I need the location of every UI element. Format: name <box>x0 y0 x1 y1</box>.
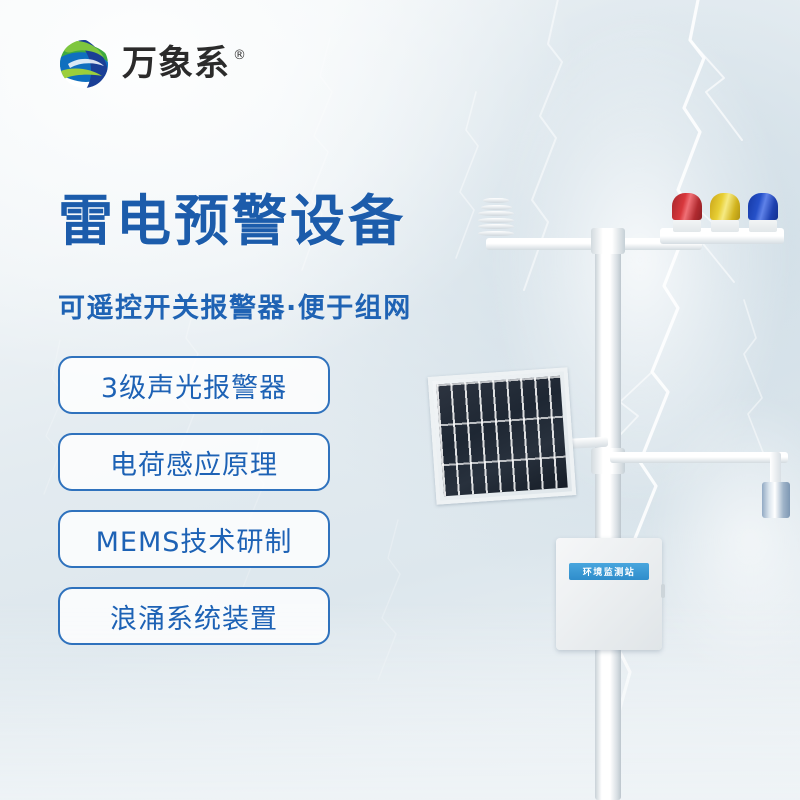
support-mast <box>595 228 621 800</box>
control-box-latch <box>661 584 665 598</box>
solar-panel-icon <box>428 367 577 504</box>
mast-collar-upper <box>591 228 625 254</box>
radiation-shield-sensor-icon <box>478 198 514 238</box>
page-title: 雷电预警设备 <box>58 192 406 251</box>
brand-name: 万象系 <box>122 47 230 82</box>
blue-alarm-beacon <box>748 193 778 229</box>
brand-header: 万象系 ® <box>58 38 246 90</box>
cylindrical-sensor-icon <box>762 482 790 518</box>
yellow-alarm-beacon <box>710 193 740 229</box>
right-crossarm <box>610 452 788 463</box>
product-poster: 环境监测站 万象系 ® <box>0 0 800 800</box>
feature-pill-1: 3级声光报警器 <box>58 356 330 414</box>
red-alarm-beacon <box>672 193 702 229</box>
brand-name-block: 万象系 ® <box>122 47 246 82</box>
registered-trademark-icon: ® <box>233 48 246 63</box>
control-box: 环境监测站 <box>556 538 662 650</box>
page-subtitle: 可遥控开关报警器·便于组网 <box>58 286 412 325</box>
feature-pill-4: 浪涌系统装置 <box>58 587 330 645</box>
control-box-label: 环境监测站 <box>569 563 649 580</box>
feature-pill-2: 电荷感应原理 <box>58 433 330 491</box>
feature-list: 3级声光报警器 电荷感应原理 MEMS技术研制 浪涌系统装置 <box>58 356 330 645</box>
globe-swirl-logo-icon <box>58 38 110 90</box>
feature-pill-3: MEMS技术研制 <box>58 510 330 568</box>
